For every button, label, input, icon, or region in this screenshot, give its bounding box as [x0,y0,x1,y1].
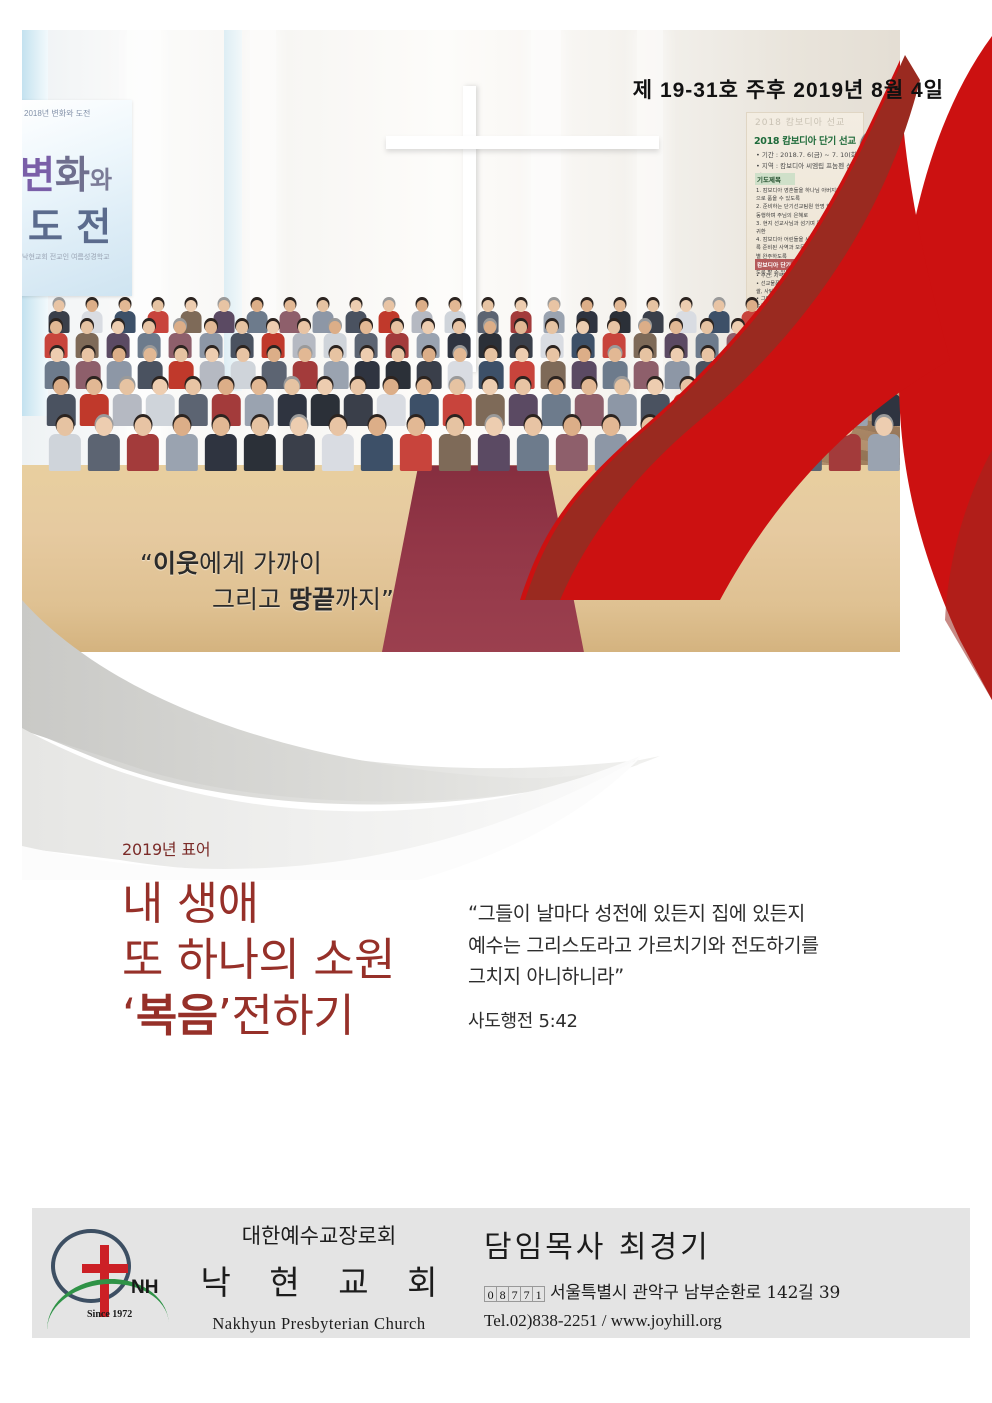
caption-quote: “ [140,549,153,578]
congregant-head [392,348,405,363]
slogan-emphasis: 복음 [136,989,218,1042]
poster-title: 2018 캄보디아 단기 선교 [754,133,856,147]
congregant [555,421,589,471]
congregant [87,421,121,471]
congregant-head [318,379,333,396]
congregant-head [681,379,696,396]
congregant-head [175,348,188,363]
congregant [867,421,900,471]
congregant [672,421,706,471]
congregant-body [88,434,120,471]
telephone-website: Tel.02)838-2251 / www.joyhill.org [484,1311,970,1331]
congregant-body [790,434,822,471]
congregant [204,421,238,471]
congregant-head [826,348,839,363]
address-text: 서울특별시 관악구 남부순환로 142길 39 [550,1283,840,1303]
church-logo: NH Since 1972 [32,1208,184,1338]
congregant-head [578,348,591,363]
congregant-head [564,417,581,436]
poster-ghost-title: 2018 캄보디아 선교 [755,115,845,128]
caption-line-2: 그리고 땅끝까지” [212,582,394,618]
photo-scene: 2018년 변화와 도전 변화와 도 전 낙현교회 전교인 여름성경학교 201… [22,30,900,652]
logo-graphic: NH Since 1972 [45,1219,171,1327]
congregant-body [751,434,783,471]
congregant-head [186,379,201,396]
banner-char-3: 와 [90,166,112,194]
logo-since-text: Since 1972 [87,1309,132,1320]
congregant [633,421,667,471]
congregant-head [57,417,74,436]
congregant-body [322,434,354,471]
caption-emphasis-1: 이웃 [153,549,199,578]
slogan-quote-close: ’ [218,989,232,1042]
congregant-body [829,434,861,471]
slogan-tail: 전하기 [231,989,354,1042]
congregant [772,382,802,426]
caption-line-1: “이웃에게 가까이 [140,546,394,582]
postal-digit: 1 [532,1286,545,1302]
congregant-head [330,417,347,436]
congregant-head [299,348,312,363]
bible-verse: “그들이 날마다 성전에 있든지 집에 있든지 예수는 그리스도라고 가르치기와… [468,898,819,1033]
congregant-head [450,379,465,396]
congregant [516,421,550,471]
congregant-body [595,434,627,471]
congregant-head [351,379,366,396]
congregant-head [702,348,715,363]
congregant-head [764,348,777,363]
congregant [399,421,433,471]
congregant-head [525,417,542,436]
congregant-body [478,434,510,471]
congregant-head [798,417,815,436]
congregant-head [516,348,529,363]
congregant-head [876,417,893,436]
congregant-head [384,379,399,396]
postal-code: 08771 [484,1283,544,1303]
verse-reference: 사도행전 5:42 [468,1007,819,1033]
congregant-head [615,379,630,396]
slogan-quote-open: ‘ [122,989,136,1042]
logo-cross-icon [82,1264,128,1273]
congregant-head [485,348,498,363]
congregant [750,421,784,471]
congregant-head [291,417,308,436]
congregant-head [648,379,663,396]
congregant-head [714,379,729,396]
congregant-body [361,434,393,471]
congregant [343,382,373,426]
congregant-body [400,434,432,471]
congregant-head [369,417,386,436]
church-name-block: 대한예수교장로회 낙 현 교 회 Nakhyun Presbyterian Ch… [184,1208,454,1338]
denomination-label: 대한예수교장로회 [184,1220,454,1250]
congregant-head [213,417,230,436]
congregant-head [252,379,267,396]
congregant-body [127,434,159,471]
wall-cross-icon [386,136,658,149]
church-name: 낙 현 교 회 [184,1256,454,1304]
caption-emphasis-2: 땅끝 [289,585,335,614]
congregant-head [82,348,95,363]
congregant-head [846,379,861,396]
congregant-head [582,379,597,396]
congregant [574,382,604,426]
congregant-head [219,379,234,396]
congregant-head [747,379,762,396]
congregant [126,421,160,471]
banner-char-1: 변 [22,153,55,197]
slogan-label: 2019년 표어 [122,836,395,860]
congregant-head [516,379,531,396]
year-slogan: 2019년 표어 내 생애 또 하나의 소원 ‘복음’전하기 [122,836,395,1043]
congregant-body [49,434,81,471]
poster-period: • 기간 : 2018.7. 6(금) ~ 7. 10(화) [756,149,859,159]
congregant-head [640,348,653,363]
congregant-head [483,379,498,396]
congregation-crowd [22,192,900,466]
poster-section-header-prayer: 기도제목 [755,173,795,185]
congregant-head [113,348,126,363]
congregant-head [96,417,113,436]
congregant [711,421,745,471]
congregant-body [439,434,471,471]
banner-char-2: 화 [55,153,90,197]
congregant-head [454,348,467,363]
congregant-body [283,434,315,471]
congregant-head [857,348,870,363]
congregant-head [837,417,854,436]
banner-small-top: 2018년 변화와 도전 [24,108,90,120]
logo-initials: NH [131,1277,158,1299]
congregant-head [408,417,425,436]
congregant-head [174,417,191,436]
congregant-head [609,348,622,363]
congregant-head [671,348,684,363]
congregant-head [144,348,157,363]
congregant-head [268,348,281,363]
congregant-head [417,379,432,396]
congregant-head [780,379,795,396]
congregant-body [244,434,276,471]
congregant-head [879,379,894,396]
congregant-head [759,417,776,436]
congregant [282,421,316,471]
congregant-head [54,379,69,396]
congregant-head [547,348,560,363]
congregant-head [733,348,746,363]
congregant [165,421,199,471]
contact-block: 담임목사 최경기 08771서울특별시 관악구 남부순환로 142길 39 Te… [454,1208,970,1338]
caption-tail-2: 까지” [335,585,394,614]
caption-rest-1: 에게 가까이 [199,549,322,578]
congregant [360,421,394,471]
congregant-body [556,434,588,471]
photo-caption: “이웃에게 가까이 그리고 땅끝까지” [140,546,394,619]
congregant-head [447,417,464,436]
congregant-head [51,348,64,363]
congregant [828,421,862,471]
slogan-line-3: ‘복음’전하기 [122,988,395,1044]
congregant-head [423,348,436,363]
pastor-name: 담임목사 최경기 [484,1222,970,1266]
congregant [789,421,823,471]
congregant-head [681,417,698,436]
slogan-line-1: 내 생애 [122,876,395,932]
congregant [594,421,628,471]
congregation-photo: 2018년 변화와 도전 변화와 도 전 낙현교회 전교인 여름성경학교 201… [22,30,900,652]
congregant-head [549,379,564,396]
congregant-head [813,379,828,396]
verse-line-1: “그들이 날마다 성전에 있든지 집에 있든지 [468,898,819,930]
congregant [48,421,82,471]
congregant [438,421,472,471]
congregant [477,421,511,471]
congregant-head [361,348,374,363]
congregant-head [135,417,152,436]
banner-line-1: 변화와 [22,156,112,194]
verse-line-3: 그치지 아니하니라” [468,961,819,993]
congregant [321,421,355,471]
verse-line-2: 예수는 그리스도라고 가르치기와 전도하기를 [468,930,819,962]
congregant-body [712,434,744,471]
church-address-line: 08771서울특별시 관악구 남부순환로 142길 39 [484,1278,970,1303]
congregant-head [120,379,135,396]
congregant-body [166,434,198,471]
congregant-body [634,434,666,471]
congregant-head [720,417,737,436]
congregant-head [237,348,250,363]
congregant-body [868,434,900,471]
congregant-body [673,434,705,471]
congregant-body [205,434,237,471]
congregant-head [795,348,808,363]
congregant-head [206,348,219,363]
congregant-head [603,417,620,436]
congregant-head [330,348,343,363]
speaker-icon [860,130,890,160]
congregant [145,382,175,426]
footer-band: NH Since 1972 대한예수교장로회 낙 현 교 회 Nakhyun P… [32,1208,970,1338]
congregant-head [252,417,269,436]
congregant-head [486,417,503,436]
congregant-head [888,348,901,363]
congregant-body [517,434,549,471]
caption-rest-2: 그리고 [212,585,289,614]
church-name-english: Nakhyun Presbyterian Church [184,1314,454,1334]
issue-date: 제 19-31호 주후 2019년 8월 4일 [633,74,944,104]
congregant-head [285,379,300,396]
congregant [243,421,277,471]
congregant-head [153,379,168,396]
slogan-line-2: 또 하나의 소원 [122,932,395,988]
congregant-head [642,417,659,436]
congregant-head [87,379,102,396]
